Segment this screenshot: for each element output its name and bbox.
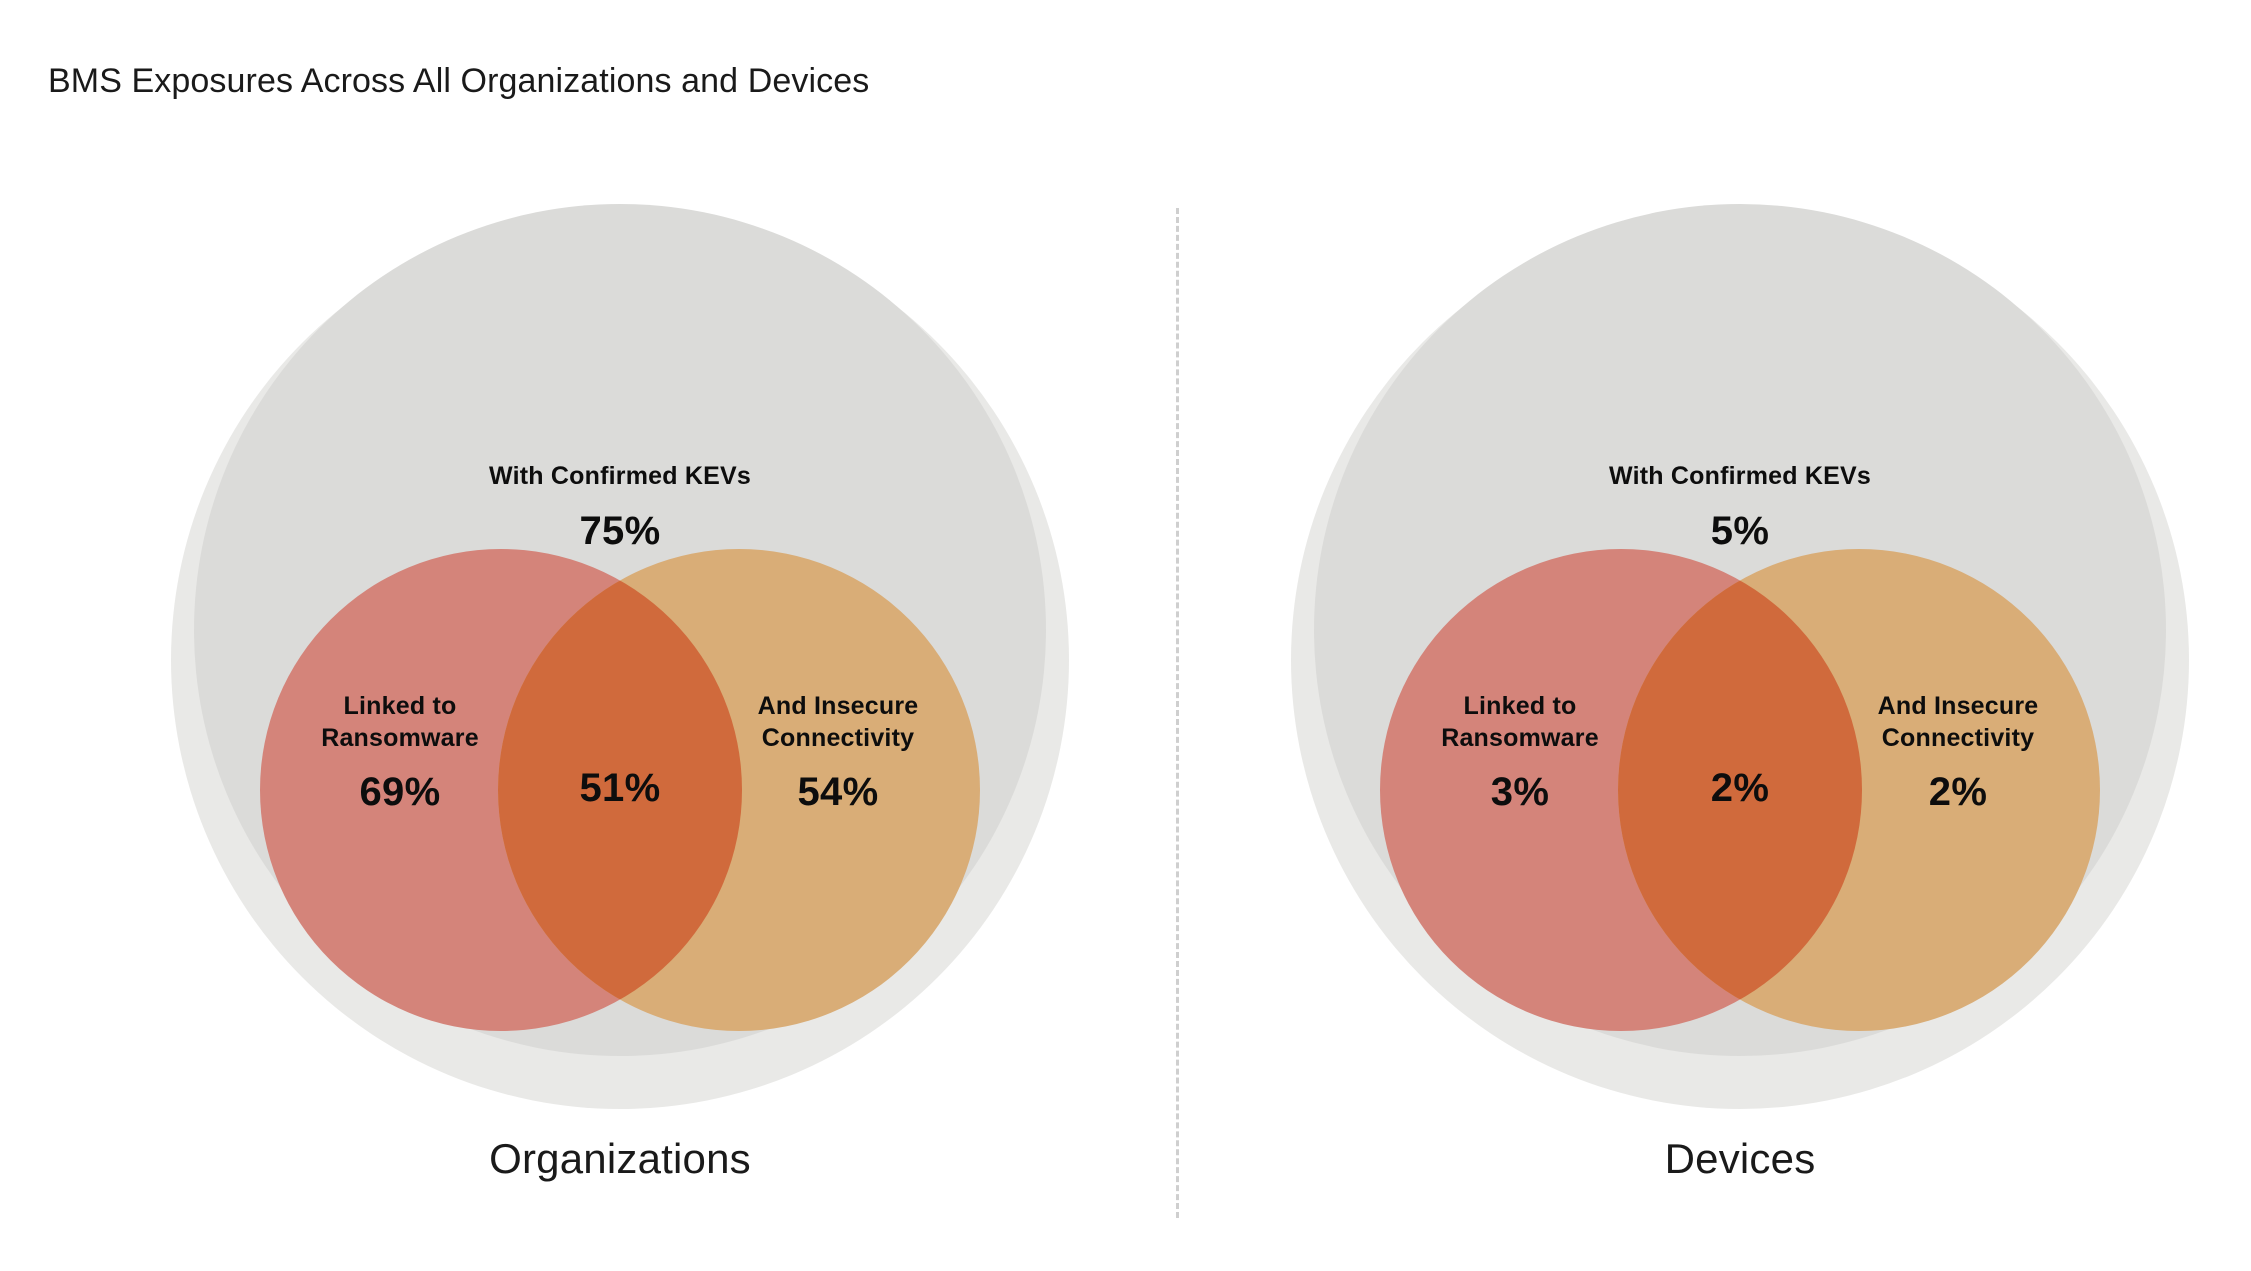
panel-caption-organizations: Organizations <box>100 1135 1140 1183</box>
ransomware-label-line2: Ransomware <box>1370 722 1670 754</box>
ransomware-text-group: Linked to Ransomware 69% <box>250 690 550 819</box>
connectivity-value: 54% <box>688 766 988 819</box>
ransomware-label-line1: Linked to <box>1370 690 1670 722</box>
connectivity-label-line1: And Insecure <box>1808 690 2108 722</box>
panel-caption-devices: Devices <box>1220 1135 2251 1183</box>
universe-value: 5% <box>1480 505 2000 558</box>
intersection-value: 51% <box>520 762 720 815</box>
connectivity-label-line1: And Insecure <box>688 690 988 722</box>
page-title: BMS Exposures Across All Organizations a… <box>48 62 869 101</box>
ransomware-label-line1: Linked to <box>250 690 550 722</box>
universe-text-group: With Confirmed KEVs 75% <box>360 460 880 558</box>
connectivity-label-line2: Connectivity <box>688 722 988 754</box>
intersection-value: 2% <box>1640 762 1840 815</box>
universe-value: 75% <box>360 505 880 558</box>
connectivity-value: 2% <box>1808 766 2108 819</box>
ransomware-value: 69% <box>250 766 550 819</box>
venn-stage: With Confirmed KEVs 75% Linked to Ransom… <box>100 190 1140 1120</box>
panel-divider <box>1176 208 1179 1218</box>
connectivity-label-line2: Connectivity <box>1808 722 2108 754</box>
connectivity-text-group: And Insecure Connectivity 54% <box>688 690 988 819</box>
ransomware-label-line2: Ransomware <box>250 722 550 754</box>
universe-text-group: With Confirmed KEVs 5% <box>1480 460 2000 558</box>
venn-panel-devices: With Confirmed KEVs 5% Linked to Ransomw… <box>1220 190 2251 1240</box>
intersection-text-group: 51% <box>520 762 720 815</box>
ransomware-text-group: Linked to Ransomware 3% <box>1370 690 1670 819</box>
venn-panel-organizations: With Confirmed KEVs 75% Linked to Ransom… <box>100 190 1140 1240</box>
universe-label: With Confirmed KEVs <box>1480 460 2000 493</box>
universe-label: With Confirmed KEVs <box>360 460 880 493</box>
intersection-text-group: 2% <box>1640 762 1840 815</box>
connectivity-text-group: And Insecure Connectivity 2% <box>1808 690 2108 819</box>
venn-stage: With Confirmed KEVs 5% Linked to Ransomw… <box>1220 190 2251 1120</box>
ransomware-value: 3% <box>1370 766 1670 819</box>
